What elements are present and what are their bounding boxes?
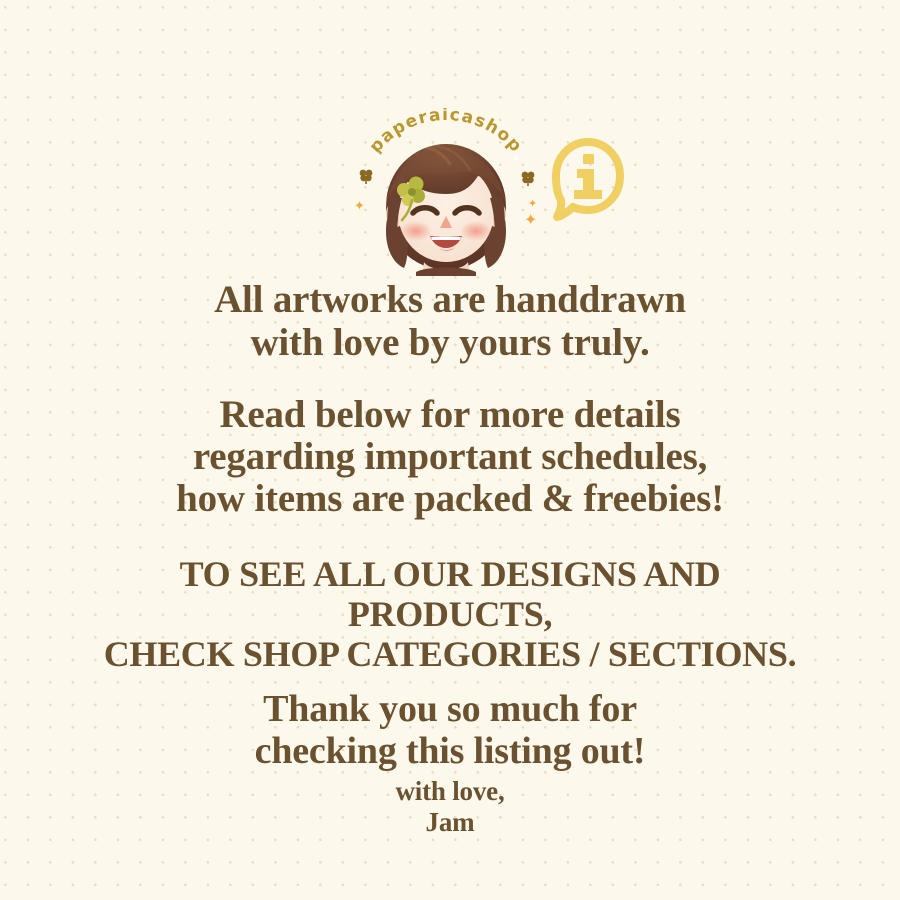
callout-line-1: TO SEE ALL OUR DESIGNS AND [0,554,900,594]
callout-line-2: PRODUCTS, [0,594,900,634]
read-below-paragraph: Read below for more details regarding im… [0,394,900,520]
thanks-line-1: Thank you so much for [0,688,900,730]
signature-block: with love, Jam [0,776,900,838]
page-canvas: paperaicashop [0,0,900,900]
read-line-1: Read below for more details [0,394,900,436]
sparkle-icon: ✦ [524,212,537,228]
header-logo-area: paperaicashop [0,112,900,282]
callout-line-3: CHECK SHOP CATEGORIES / SECTIONS. [0,634,900,674]
sparkle-icon: ✦ [354,200,365,213]
intro-line-1: All artworks are handdrawn [0,278,900,321]
avatar [366,136,526,276]
message-body: All artworks are handdrawn with love by … [0,278,900,838]
signature-name: Jam [0,807,900,838]
intro-paragraph: All artworks are handdrawn with love by … [0,278,900,364]
thanks-paragraph: Thank you so much for checking this list… [0,688,900,772]
callout-paragraph: TO SEE ALL OUR DESIGNS AND PRODUCTS, CHE… [0,554,900,674]
intro-line-2: with love by yours truly. [0,321,900,364]
info-icon [548,132,632,228]
signature-salutation: with love, [0,776,900,807]
thanks-line-2: checking this listing out! [0,730,900,772]
brand-mark: paperaicashop [352,112,538,282]
read-line-2: regarding important schedules, [0,436,900,478]
sparkle-icon: ✦ [528,198,537,209]
read-line-3: how items are packed & freebies! [0,478,900,520]
